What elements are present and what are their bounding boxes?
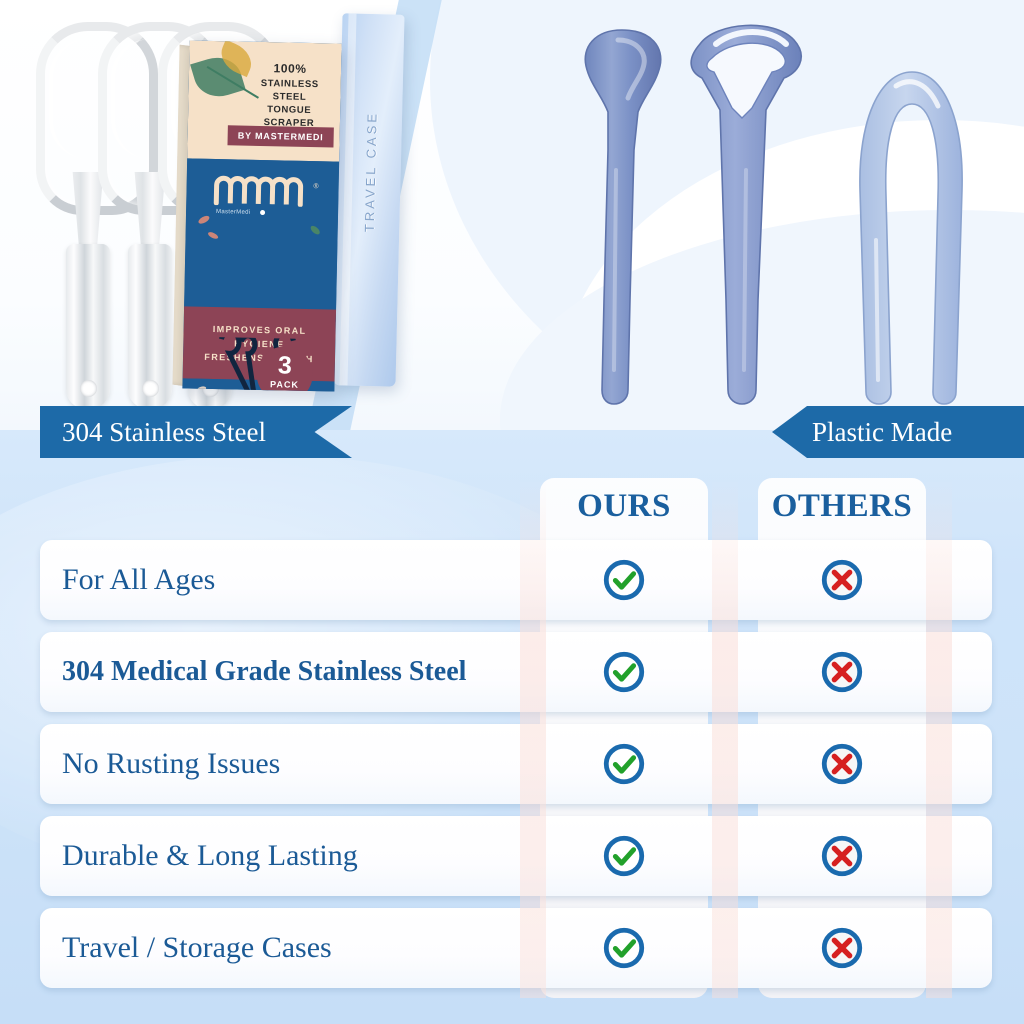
infographic-canvas: TRAVEL CASE 100% STAINLESS STEEL TONGUE … [0, 0, 1024, 1024]
logo-dot-icon [260, 210, 265, 215]
package-blue-panel: ® MasterMedi 3 PACK [184, 158, 339, 321]
cell-ours [540, 741, 708, 787]
row-label: Durable & Long Lasting [40, 839, 532, 873]
cross-circle-icon [819, 557, 865, 603]
pack-count-number: 3 [257, 351, 314, 380]
cell-others [758, 741, 926, 787]
row-label: 304 Medical Grade Stainless Steel [40, 655, 532, 689]
banner-right-label: Plastic Made [812, 417, 952, 448]
cross-circle-icon [819, 833, 865, 879]
package-headline: 100% STAINLESS STEEL TONGUE SCRAPER [242, 62, 337, 131]
registered-trademark-icon: ® [313, 183, 318, 190]
check-circle-icon [601, 741, 647, 787]
travel-case-label: TRAVEL CASE [361, 81, 380, 261]
cell-others [758, 649, 926, 695]
plastic-scraper-triangle [691, 25, 801, 404]
package-cream-panel: 100% STAINLESS STEEL TONGUE SCRAPER BY M… [187, 40, 341, 161]
mastermedi-wordmark: MasterMedi [216, 209, 250, 216]
benefit-line-1: IMPROVES ORAL [213, 324, 307, 336]
cell-others [758, 557, 926, 603]
steel-scraper-hole [80, 380, 97, 397]
cell-others [758, 925, 926, 971]
plastic-scraper-spoon [585, 30, 660, 404]
cell-ours [540, 925, 708, 971]
banner-left-label: 304 Stainless Steel [62, 417, 266, 448]
plastic-scraper-u-shape [860, 72, 962, 404]
column-header-others: OTHERS [758, 488, 926, 525]
row-label: Travel / Storage Cases [40, 931, 532, 965]
table-row: Travel / Storage Cases [40, 908, 992, 988]
check-circle-icon [601, 649, 647, 695]
table-row: No Rusting Issues [40, 724, 992, 804]
cell-others [758, 833, 926, 879]
travel-case: TRAVEL CASE [333, 13, 404, 386]
mastermedi-logo: ® [212, 173, 313, 207]
cross-circle-icon [819, 741, 865, 787]
steel-scraper-hole [142, 380, 159, 397]
table-row: Durable & Long Lasting [40, 816, 992, 896]
check-circle-icon [601, 833, 647, 879]
row-label: For All Ages [40, 563, 532, 597]
cross-circle-icon [819, 925, 865, 971]
table-row: 304 Medical Grade Stainless Steel [40, 632, 992, 712]
table-row: For All Ages [40, 540, 992, 620]
cross-circle-icon [819, 649, 865, 695]
package-percent: 100% [243, 62, 337, 77]
package-headline-line1: STAINLESS STEEL [261, 78, 319, 103]
row-label: No Rusting Issues [40, 747, 532, 781]
package-brand-bar: BY MASTERMEDI [227, 125, 333, 147]
cell-ours [540, 649, 708, 695]
banner-plastic-made: Plastic Made [772, 406, 1024, 458]
comparison-rows: For All Ages 304 Medical Grade Stainle [0, 540, 1024, 1000]
confetti-speck [309, 224, 321, 236]
check-circle-icon [601, 925, 647, 971]
pack-count-badge: 3 PACK [256, 346, 313, 392]
confetti-speck [197, 214, 210, 225]
confetti-speck [207, 231, 219, 240]
column-header-ours: OURS [540, 488, 708, 525]
check-circle-icon [601, 557, 647, 603]
retail-package-box: 100% STAINLESS STEEL TONGUE SCRAPER BY M… [182, 40, 341, 391]
banner-stainless-steel: 304 Stainless Steel [40, 406, 352, 458]
stainless-product-photo: TRAVEL CASE 100% STAINLESS STEEL TONGUE … [0, 0, 470, 420]
cell-ours [540, 833, 708, 879]
cell-ours [540, 557, 708, 603]
plastic-product-photo [560, 0, 1024, 430]
comparison-table: OURS OTHERS For All Ages [0, 470, 1024, 1010]
pack-count-word: PACK [256, 379, 312, 390]
